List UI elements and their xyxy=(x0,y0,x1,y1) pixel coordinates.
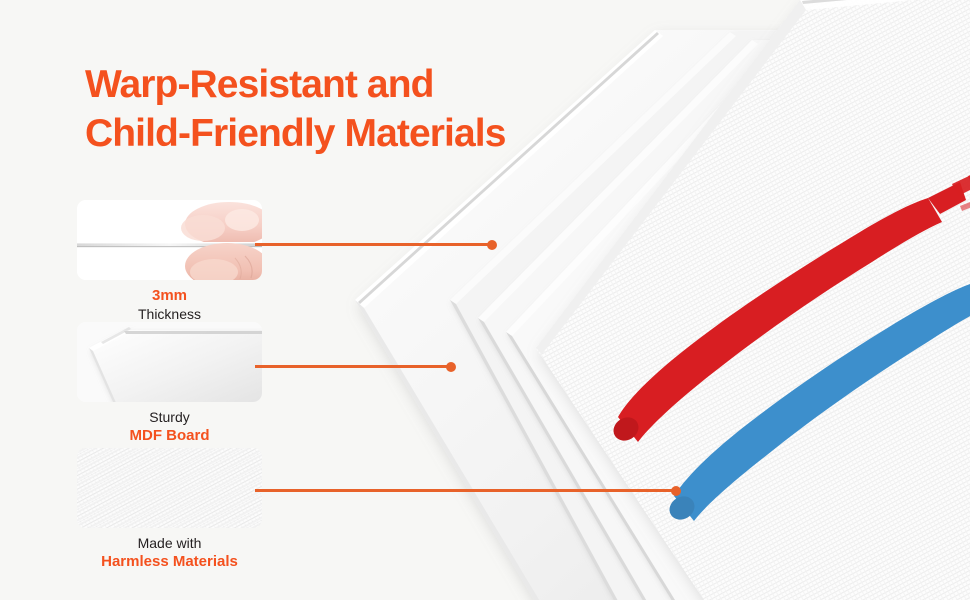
thickness-value: 3mm xyxy=(77,287,262,306)
mdf-board-thumbnail xyxy=(77,322,262,402)
thickness-label: Thickness xyxy=(77,306,262,324)
connector-dot-harmless-materials xyxy=(671,486,681,496)
mdf-board-caption: Sturdy MDF Board xyxy=(77,409,262,445)
connector-line-harmless-materials xyxy=(255,489,677,492)
harmless-materials-caption: Made with Harmless Materials xyxy=(77,535,262,571)
infographic-canvas: Warp-Resistant and Child-Friendly Materi… xyxy=(0,0,970,600)
connector-line-mdf-board xyxy=(255,365,452,368)
connector-dot-mdf-board xyxy=(446,362,456,372)
harmless-materials-label: Made with xyxy=(77,535,262,553)
thickness-thumbnail xyxy=(77,200,262,280)
harmless-materials-thumbnail xyxy=(77,448,262,528)
feature-mdf-board: Sturdy MDF Board xyxy=(77,322,262,445)
page-title: Warp-Resistant and Child-Friendly Materi… xyxy=(85,60,505,158)
connector-line-thickness xyxy=(255,243,493,246)
connector-dot-thickness xyxy=(487,240,497,250)
mdf-board-label: Sturdy xyxy=(77,409,262,427)
harmless-materials-value: Harmless Materials xyxy=(77,553,262,572)
feature-thickness: 3mm Thickness xyxy=(77,200,262,323)
mdf-board-value: MDF Board xyxy=(77,427,262,446)
thickness-caption: 3mm Thickness xyxy=(77,287,262,323)
feature-harmless-materials: Made with Harmless Materials xyxy=(77,448,262,571)
